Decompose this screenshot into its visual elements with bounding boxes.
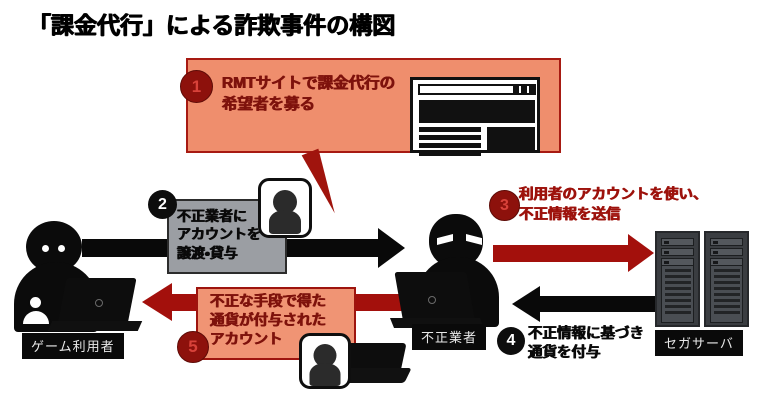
avatar-icon-top: [258, 178, 312, 238]
person-outline-icon: [28, 295, 43, 310]
server-rack-right: [704, 231, 749, 327]
server-slot: [710, 248, 743, 256]
arrow-hacker-to-server: [493, 245, 633, 262]
avatar-body: [269, 210, 301, 234]
browser-window-icon: [410, 77, 540, 153]
arrow-right-icon: [628, 234, 654, 272]
callout-step-3-text: 利用者のアカウントを使い、 不正情報を送信: [519, 186, 708, 225]
step-badge-1: 1: [180, 70, 213, 103]
step-badge-5: 5: [177, 331, 209, 363]
browser-text-line: [419, 135, 481, 140]
laptop-logo-dot: [95, 299, 103, 307]
server-rack-left: [655, 231, 700, 327]
server-slot: [710, 238, 743, 246]
callout-step-1-text: RMTサイトで課金代行の 希望者を募る: [222, 74, 395, 116]
server-bay: [661, 265, 694, 323]
game-user-eye-left: [42, 245, 49, 252]
game-user-eye-right: [58, 245, 65, 252]
nameplate-hacker: 不正業者: [412, 324, 486, 350]
diagram-canvas: 「課金代行」による詐欺事件の構図 RMTサイトで課金代行の 希望者を募る 1: [0, 0, 780, 404]
arrow-server-to-hacker: [540, 296, 670, 312]
arrow-right-icon: [378, 228, 405, 268]
browser-banner: [419, 100, 535, 123]
callout-step-4-text: 不正情報に基づき 通貨を付与: [528, 325, 644, 363]
browser-button-2: [521, 86, 527, 93]
browser-image-block: [487, 127, 535, 150]
step-badge-3: 3: [489, 190, 520, 221]
server-bay: [710, 265, 743, 323]
browser-button-1: [513, 86, 519, 93]
server-rack-icon: [655, 231, 753, 327]
nameplate-server: セガサーバ: [655, 330, 743, 356]
avatar-icon-bottom: [299, 333, 351, 389]
avatar-body: [310, 363, 341, 386]
callout-step-1: RMTサイトで課金代行の 希望者を募る: [186, 58, 561, 153]
step-badge-4: 4: [497, 327, 525, 355]
browser-button-3: [529, 86, 535, 93]
browser-text-line: [419, 151, 481, 156]
page-title: 「課金代行」による詐欺事件の構図: [28, 6, 395, 40]
game-user-laptop-base: [48, 321, 142, 331]
step-badge-2: 2: [148, 190, 177, 219]
browser-text-line: [419, 127, 481, 132]
nameplate-game-user: ゲーム利用者: [22, 333, 124, 359]
server-slot: [661, 248, 694, 256]
browser-text-line: [419, 143, 481, 148]
arrow-left-icon: [142, 283, 172, 321]
laptop-logo-dot: [428, 296, 436, 304]
server-slot: [661, 238, 694, 246]
callout-step-2-text: 不正業者に アカウントを 譲渡・貸与: [177, 207, 261, 262]
arrow-left-icon: [512, 286, 540, 322]
